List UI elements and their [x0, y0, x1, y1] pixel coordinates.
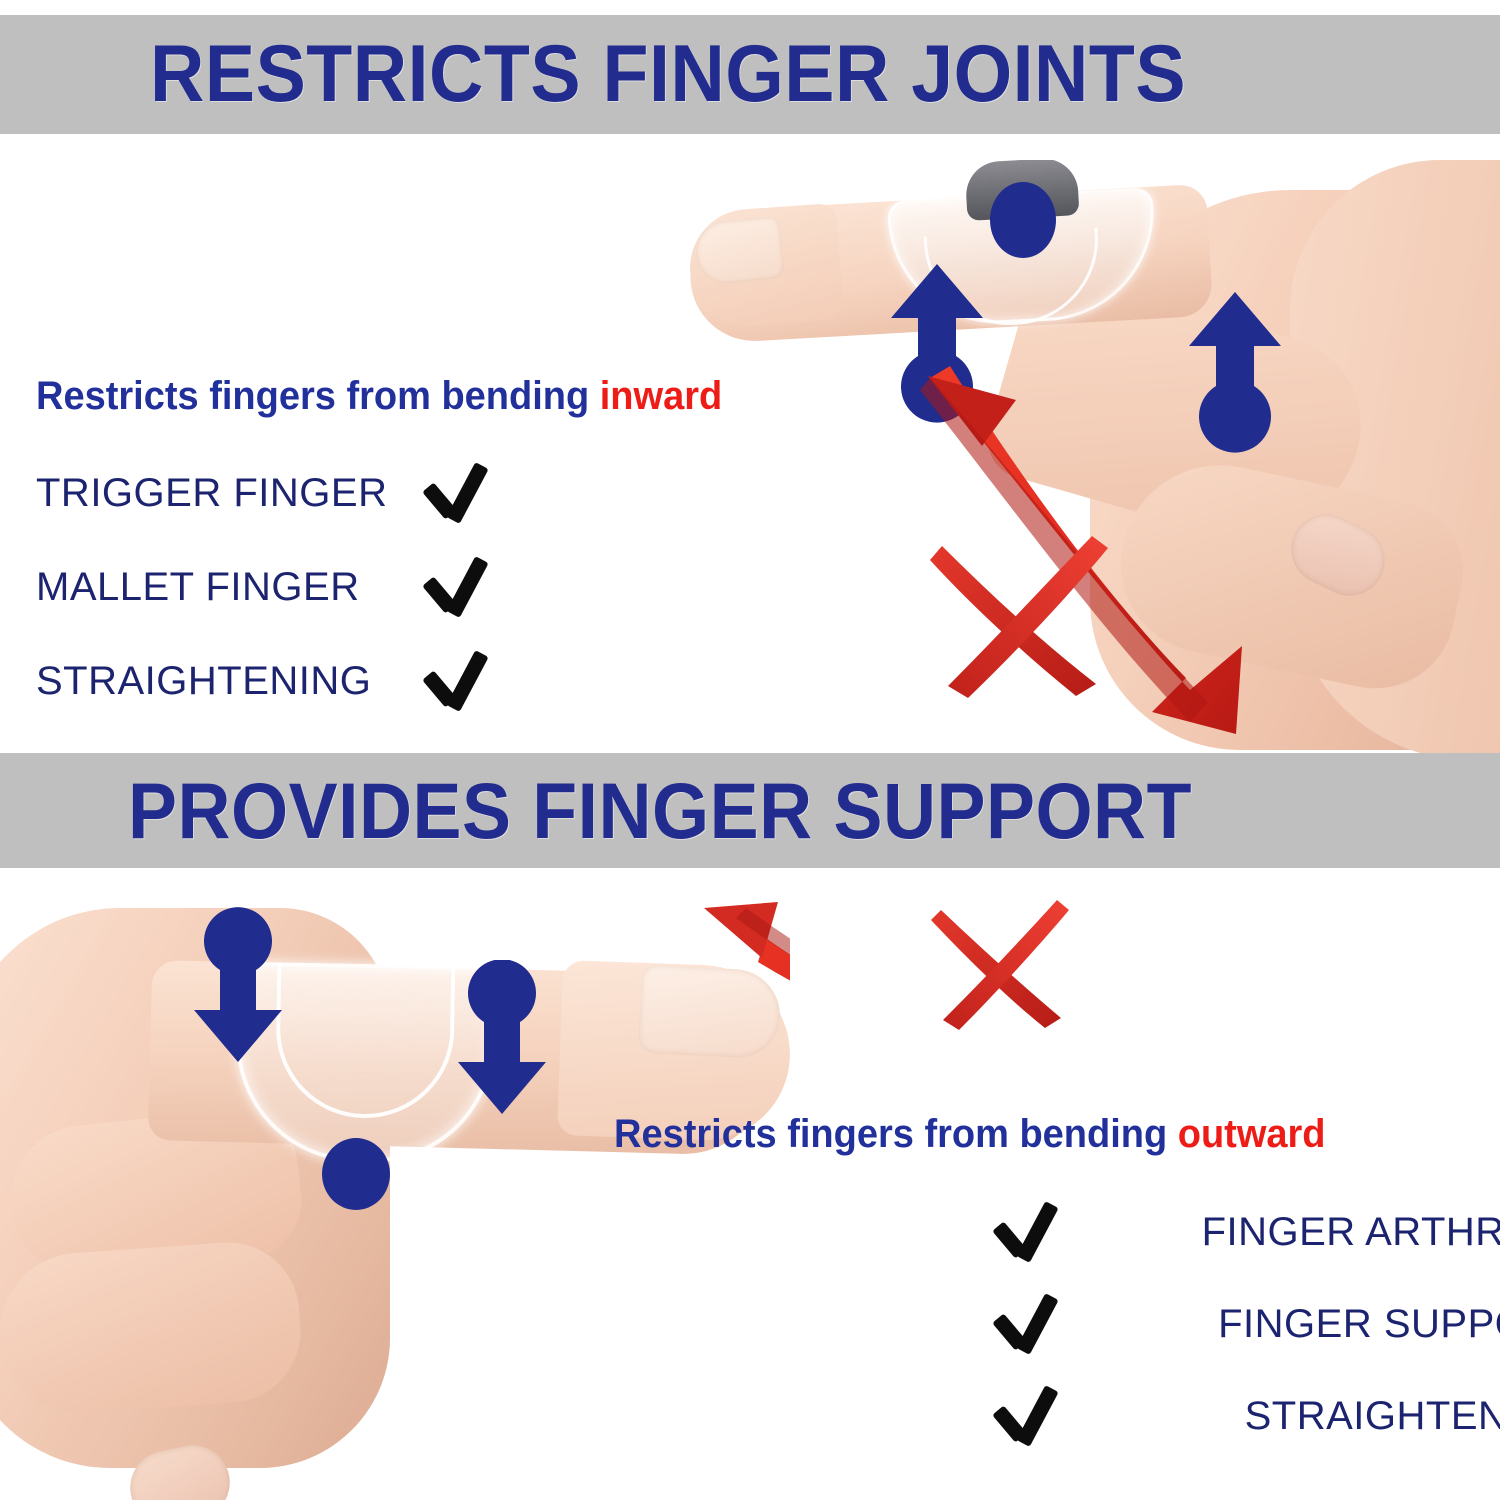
- check-icon: [416, 557, 494, 617]
- checklist-label: FINGER ARTHRITIS: [1160, 1210, 1500, 1255]
- blue-down-arrow-icon: [450, 960, 554, 1118]
- list-item: TRIGGER FINGER: [36, 446, 494, 540]
- headline-outward-emphasis: outward: [1178, 1112, 1326, 1156]
- photo-finger-splint-outward: [0, 868, 790, 1500]
- banner-bottom-title: PROVIDES FINGER SUPPORT: [128, 765, 1192, 857]
- check-icon: [986, 1202, 1064, 1262]
- headline-inward: Restricts fingers from bending inward: [36, 374, 722, 419]
- check-icon: [416, 651, 494, 711]
- blue-down-arrow-icon: [186, 906, 290, 1066]
- headline-outward-prefix: Restricts fingers from bending: [614, 1112, 1178, 1156]
- checklist-outward: FINGER ARTHRITIS FINGER SUPPORT STRAIGHT…: [986, 1186, 1500, 1462]
- blue-dot-icon: [322, 1138, 390, 1210]
- list-item: STRAIGHTENING: [36, 634, 494, 728]
- blue-dot-icon: [990, 182, 1056, 258]
- list-item: FINGER ARTHRITIS: [986, 1186, 1500, 1278]
- checklist-inward: TRIGGER FINGER MALLET FINGER STRAIGHTENI…: [36, 446, 494, 728]
- check-icon: [986, 1386, 1064, 1446]
- banner-provides-finger-support: PROVIDES FINGER SUPPORT: [0, 753, 1500, 868]
- checklist-label: TRIGGER FINGER: [36, 471, 416, 516]
- banner-restricts-finger-joints: RESTRICTS FINGER JOINTS: [0, 15, 1500, 134]
- headline-inward-emphasis: inward: [600, 374, 722, 418]
- list-item: MALLET FINGER: [36, 540, 494, 634]
- headline-outward: Restricts fingers from bending outward: [614, 1112, 1326, 1157]
- red-cross-icon: [920, 520, 1120, 700]
- checklist-label: FINGER SUPPORT: [1160, 1302, 1500, 1347]
- list-item: STRAIGHTENING: [986, 1370, 1500, 1462]
- red-curved-arrow-icon: [680, 888, 790, 1048]
- red-cross-icon: [925, 890, 1075, 1030]
- check-icon: [416, 463, 494, 523]
- headline-inward-prefix: Restricts fingers from bending: [36, 374, 600, 418]
- banner-top-title: RESTRICTS FINGER JOINTS: [150, 28, 1186, 121]
- lower-knuckle-shape: [0, 1238, 305, 1419]
- check-icon: [986, 1294, 1064, 1354]
- checklist-label: STRAIGHTENING: [1160, 1394, 1500, 1439]
- photo-finger-splint-inward: [690, 160, 1500, 753]
- list-item: FINGER SUPPORT: [986, 1278, 1500, 1370]
- checklist-label: MALLET FINGER: [36, 565, 416, 610]
- infographic-page: RESTRICTS FINGER JOINTS: [0, 0, 1500, 1500]
- checklist-label: STRAIGHTENING: [36, 659, 416, 704]
